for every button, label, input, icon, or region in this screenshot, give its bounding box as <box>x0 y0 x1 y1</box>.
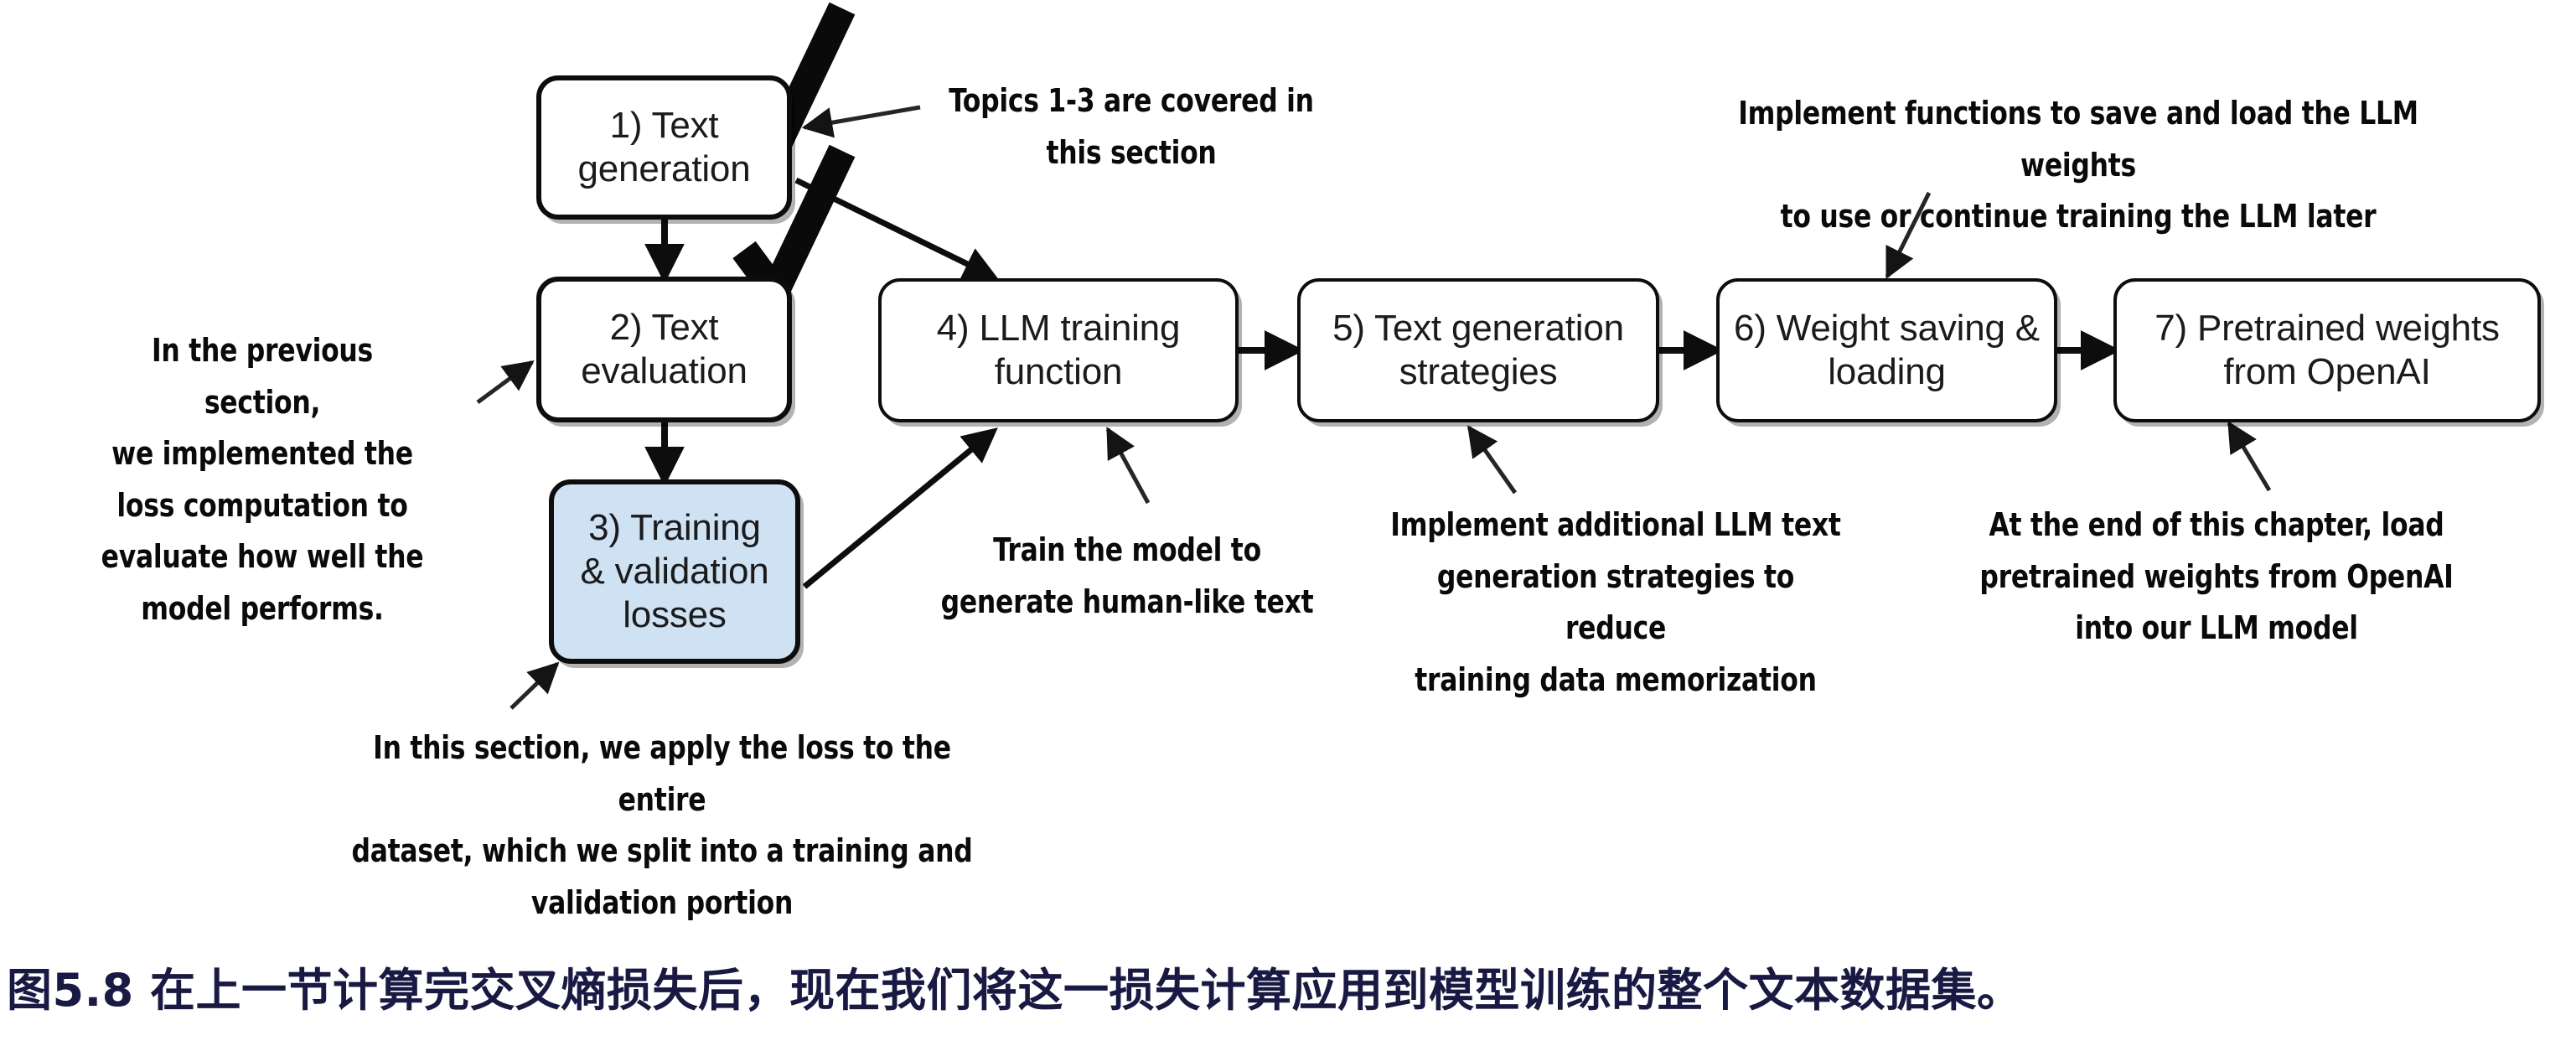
flow-node-label: 7) Pretrained weights from OpenAI <box>2154 307 2500 394</box>
leader-section-note <box>511 664 557 708</box>
flow-node-training-validation-losses[interactable]: 3) Training & validation losses <box>549 479 800 664</box>
leader-openai-note <box>2229 423 2269 490</box>
leader-train-note <box>1108 429 1148 503</box>
flow-node-label: 3) Training & validation losses <box>580 506 768 637</box>
flow-node-label: 6) Weight saving & loading <box>1734 307 2040 394</box>
annotation-previous-section: In the previous section, we implemented … <box>96 325 428 634</box>
annotation-topics-covered: Topics 1-3 are covered in this section <box>931 75 1332 179</box>
figure-canvas: 1) Text generation 2) Text evaluation 3)… <box>0 0 2576 1046</box>
flow-node-label: 4) LLM training function <box>937 307 1180 394</box>
annotation-save-load-weights: Implement functions to save and load the… <box>1681 88 2475 243</box>
flow-node-weight-saving-loading[interactable]: 6) Weight saving & loading <box>1716 278 2057 422</box>
leader-strategies-note <box>1469 427 1515 493</box>
annotation-train-model: Train the model to generate human-like t… <box>930 525 1323 628</box>
flow-node-text-generation[interactable]: 1) Text generation <box>536 75 792 220</box>
flow-node-llm-training-function[interactable]: 4) LLM training function <box>878 278 1239 422</box>
leader-previous-note <box>478 362 532 402</box>
flow-node-text-evaluation[interactable]: 2) Text evaluation <box>536 277 792 422</box>
flow-node-label: 1) Text generation <box>578 104 751 191</box>
leader-topics-note <box>804 107 920 127</box>
flow-node-text-generation-strategies[interactable]: 5) Text generation strategies <box>1297 278 1659 422</box>
annotation-load-openai-weights: At the end of this chapter, load pretrai… <box>1973 500 2460 655</box>
figure-caption: 图5.8 在上一节计算完交叉熵损失后，现在我们将这一损失计算应用到模型训练的整个… <box>7 964 2571 1018</box>
flow-node-pretrained-weights-openai[interactable]: 7) Pretrained weights from OpenAI <box>2113 278 2541 422</box>
annotation-generation-strategies: Implement additional LLM text generation… <box>1384 500 1847 706</box>
flow-node-label: 2) Text evaluation <box>581 306 747 393</box>
arrow-box1-to-box4 <box>796 180 993 277</box>
annotation-apply-loss-dataset: In this section, we apply the loss to th… <box>342 722 982 929</box>
flow-node-label: 5) Text generation strategies <box>1332 307 1624 394</box>
